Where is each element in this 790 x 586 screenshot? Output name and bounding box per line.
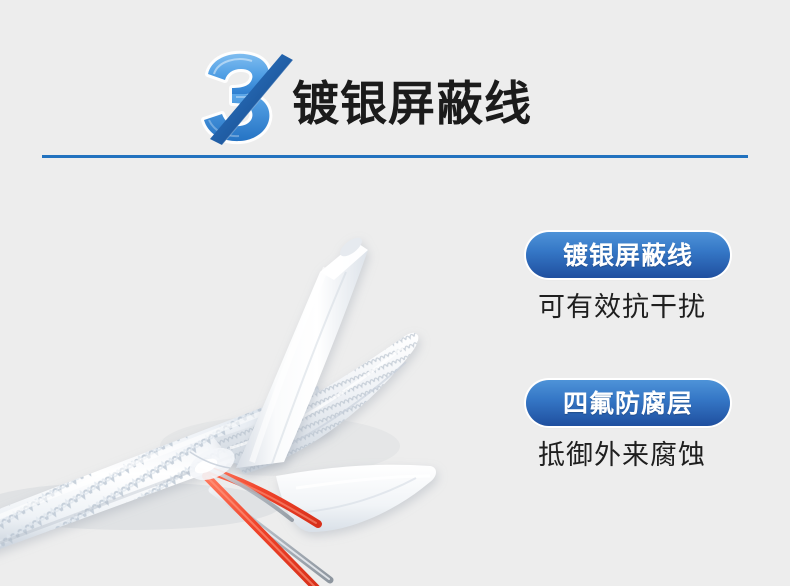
silver-plated-shielded-cable-photo (0, 176, 500, 586)
ptfe-flap (276, 465, 436, 532)
feature-item-0: 镀银屏蔽线 可有效抗干扰 (520, 232, 770, 324)
feature-subtitle-1: 抵御外来腐蚀 (538, 440, 770, 472)
header-divider (42, 155, 748, 158)
feature-badge-label-1: 四氟防腐层 (563, 391, 693, 416)
page-title: 镀银屏蔽线 (292, 70, 532, 140)
feature-list: 镀银屏蔽线 可有效抗干扰 四氟防腐层 抵御外来腐蚀 (520, 232, 770, 529)
feature-badge-label-0: 镀银屏蔽线 (563, 243, 693, 268)
feature-item-1: 四氟防腐层 抵御外来腐蚀 (520, 380, 770, 472)
step-number-emblem (192, 48, 300, 148)
feature-badge-0[interactable]: 镀银屏蔽线 (526, 232, 730, 278)
feature-badge-1[interactable]: 四氟防腐层 (526, 380, 730, 426)
feature-subtitle-0: 可有效抗干扰 (538, 292, 770, 324)
banner-header: 镀银屏蔽线 (0, 0, 790, 158)
product-feature-banner: 镀银屏蔽线 (0, 0, 790, 586)
